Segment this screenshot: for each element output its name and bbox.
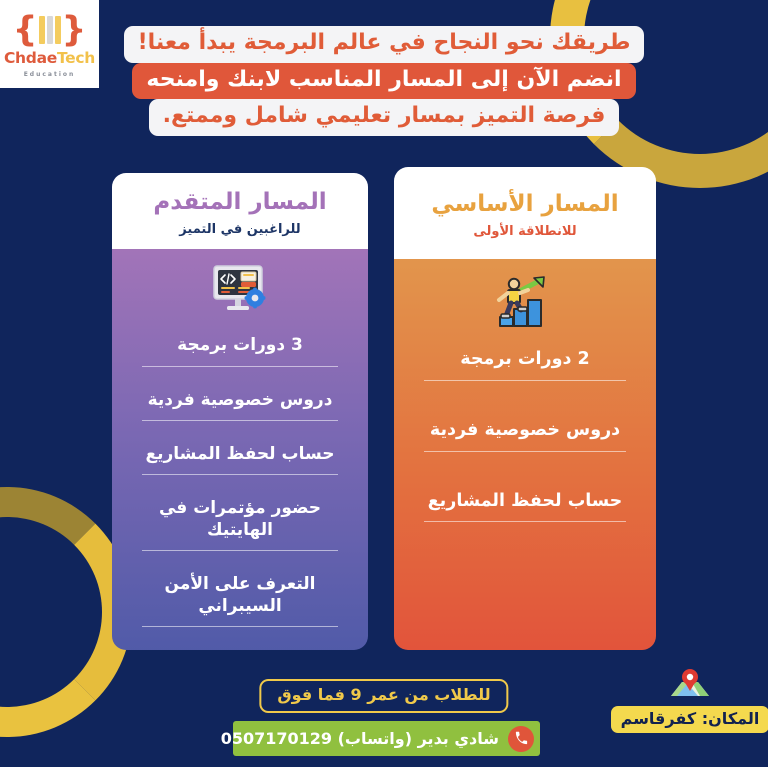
plan-card-advanced-feature-list: 3 دورات برمجة دروس خصوصية فردية حساب لحف… [126,329,354,644]
feature-item: التعرف على الأمن السيبراني [142,568,338,627]
feature-item: دروس خصوصية فردية [424,414,625,452]
plan-card-advanced-subtitle: للراغبين في التميز [179,222,300,237]
location-block: المكان: كفرقاسم [620,666,760,733]
plan-card-basic[interactable]: المسار الأساسي للانطلاقة الأولى [394,167,656,650]
feature-item: حساب لحفظ المشاريع [424,485,625,523]
plan-card-advanced-body: 3 دورات برمجة دروس خصوصية فردية حساب لحف… [112,249,368,650]
whatsapp-contact-text: شادي بدير (واتساب) 0507170129 [221,729,499,748]
map-pin-icon [667,666,713,702]
plan-card-basic-feature-list: 2 دورات برمجة دروس خصوصية فردية حساب لحف… [408,341,642,555]
location-badge: المكان: كفرقاسم [611,706,768,733]
whatsapp-contact-bar[interactable]: شادي بدير (واتساب) 0507170129 [233,721,540,756]
computer-code-gear-icon [208,263,272,323]
plan-card-basic-body: 2 دورات برمجة دروس خصوصية فردية حساب لحف… [394,259,656,650]
headline-line-1: طريقك نحو النجاح في عالم البرمجة يبدأ مع… [124,26,645,63]
headline-line-2: انضم الآن إلى المسار المناسب لابنك وامنح… [132,63,635,100]
headline-line-3: فرصة التميز بمسار تعليمي شامل وممتع. [149,99,620,136]
phone-icon [508,726,534,752]
plan-card-advanced[interactable]: المسار المتقدم للراغبين في التميز [112,173,368,650]
feature-item: حضور مؤتمرات في الهايتيك [142,492,338,551]
feature-item: 3 دورات برمجة [142,329,338,366]
plan-card-basic-title: المسار الأساسي [431,191,618,217]
plan-card-basic-subtitle: للانطلاقة الأولى [473,224,576,239]
plan-card-basic-header: المسار الأساسي للانطلاقة الأولى [394,167,656,259]
headline-block: طريقك نحو النجاح في عالم البرمجة يبدأ مع… [0,26,768,136]
feature-item: 2 دورات برمجة [424,343,625,381]
age-requirement-badge: للطلاب من عمر 9 فما فوق [259,679,508,713]
feature-item: دروس خصوصية فردية [142,384,338,421]
person-growth-chart-icon [494,273,556,335]
plan-card-advanced-title: المسار المتقدم [153,189,326,215]
plan-card-advanced-header: المسار المتقدم للراغبين في التميز [112,173,368,249]
feature-item: حساب لحفظ المشاريع [142,438,338,475]
